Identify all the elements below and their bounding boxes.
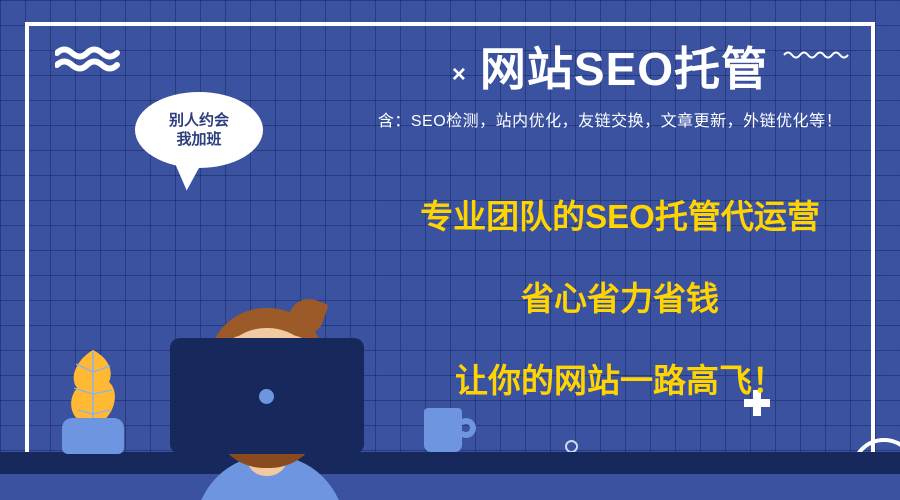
page-title: 网站SEO托管 [480,44,768,95]
slogan-line-1: 专业团队的SEO托管代运营 [370,190,870,238]
seo-promo-banner: × 网站SEO托管 含：SEO检测，站内优化，友链交换，文章更新，外链优化等！ … [0,0,900,500]
x-mark-icon: × [452,63,466,87]
laptop-logo-dot [259,389,274,404]
speech-bubble-line-1: 别人约会 [169,112,229,129]
slogan-line-2: 省心省力省钱 [370,272,870,320]
slogan-line-3: 让你的网站一路高飞！ [370,354,870,402]
desk-front-panel [0,474,900,500]
subtitle-text: 含：SEO检测，站内优化，友链交换，文章更新，外链优化等！ [330,107,890,131]
headline-block: × 网站SEO托管 含：SEO检测，站内优化，友链交换，文章更新，外链优化等！ [330,44,890,131]
plant-pot [62,418,124,454]
desk-surface [0,452,900,474]
title-row: × 网站SEO托管 [330,44,890,95]
speech-bubble-line-2: 我加班 [176,131,221,148]
slogan-block: 专业团队的SEO托管代运营 省心省力省钱 让你的网站一路高飞！ [370,190,870,402]
coffee-mug-icon [424,408,462,452]
wavy-lines-icon [55,46,125,77]
